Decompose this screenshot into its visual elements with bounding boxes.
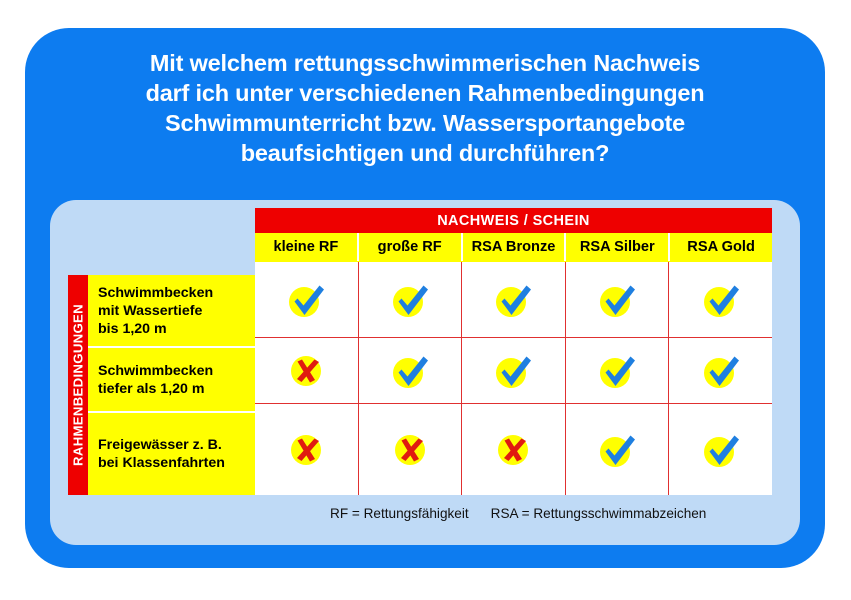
cell-r2-c0 <box>255 404 359 495</box>
cell-r0-c0 <box>255 262 359 337</box>
row-label-1-line-1: Schwimmbecken <box>98 284 255 302</box>
check-icon <box>284 280 328 320</box>
cell-r0-c1 <box>359 262 463 337</box>
cell-r0-c4 <box>669 262 772 337</box>
title-line-4: beaufsichtigen und durchführen? <box>25 138 825 168</box>
footnote-legend: RF = RettungsfähigkeitRSA = Rettungsschw… <box>330 506 780 521</box>
row-label-1: Schwimmbecken mit Wassertiefe bis 1,20 m <box>88 275 255 348</box>
row-label-1-line-2: mit Wassertiefe <box>98 302 255 320</box>
title-line-3: Schwimmunterricht bzw. Wassersportangebo… <box>25 108 825 138</box>
table-row <box>255 338 772 404</box>
cell-r1-c4 <box>669 338 772 403</box>
row-label-1-line-3: bis 1,20 m <box>98 320 255 338</box>
cell-r0-c3 <box>566 262 670 337</box>
row-label-2-line-2: tiefer als 1,20 m <box>98 380 255 398</box>
column-header-kleine-rf: kleine RF <box>255 233 359 261</box>
check-icon <box>388 351 432 391</box>
cross-icon <box>388 430 432 470</box>
footnote-rf: RF = Rettungsfähigkeit <box>330 506 469 521</box>
table-row <box>255 404 772 495</box>
row-label-3-line-2: bei Klassenfahrten <box>98 454 255 472</box>
check-icon <box>595 430 639 470</box>
cross-icon <box>491 430 535 470</box>
row-label-3: Freigewässer z. B. bei Klassenfahrten <box>88 413 255 495</box>
title-line-1: Mit welchem rettungsschwimmerischen Nach… <box>25 48 825 78</box>
table-body <box>255 261 772 495</box>
row-label-column: Schwimmbecken mit Wassertiefe bis 1,20 m… <box>88 275 255 495</box>
table-row <box>255 262 772 338</box>
check-icon <box>491 351 535 391</box>
column-header-row: kleine RF große RF RSA Bronze RSA Silber… <box>255 233 772 261</box>
row-label-2: Schwimmbecken tiefer als 1,20 m <box>88 348 255 413</box>
row-label-3-line-1: Freigewässer z. B. <box>98 436 255 454</box>
column-header-rsa-silber: RSA Silber <box>566 233 670 261</box>
cell-r1-c1 <box>359 338 463 403</box>
check-icon <box>699 351 743 391</box>
check-icon <box>699 280 743 320</box>
cell-r2-c3 <box>566 404 670 495</box>
cell-r0-c2 <box>462 262 566 337</box>
cell-r1-c0 <box>255 338 359 403</box>
column-header-rsa-gold: RSA Gold <box>670 233 772 261</box>
check-icon <box>491 280 535 320</box>
cell-r1-c3 <box>566 338 670 403</box>
row-label-2-line-1: Schwimmbecken <box>98 362 255 380</box>
cross-icon <box>284 351 328 391</box>
infographic-root: Mit welchem rettungsschwimmerischen Nach… <box>0 0 851 600</box>
check-icon <box>595 351 639 391</box>
cell-r1-c2 <box>462 338 566 403</box>
cell-r2-c1 <box>359 404 463 495</box>
cell-r2-c4 <box>669 404 772 495</box>
page-title: Mit welchem rettungsschwimmerischen Nach… <box>25 48 825 168</box>
check-icon <box>388 280 432 320</box>
check-icon <box>699 430 743 470</box>
column-header-rsa-bronze: RSA Bronze <box>463 233 567 261</box>
matrix-table: RAHMENBEDINGUNGEN Schwimmbecken mit Wass… <box>68 208 772 495</box>
side-label-rahmenbedingungen: RAHMENBEDINGUNGEN <box>68 275 88 495</box>
cross-icon <box>284 430 328 470</box>
table-header-band: NACHWEIS / SCHEIN <box>255 208 772 233</box>
side-label-text: RAHMENBEDINGUNGEN <box>71 304 86 466</box>
title-line-2: darf ich unter verschiedenen Rahmenbedin… <box>25 78 825 108</box>
check-icon <box>595 280 639 320</box>
footnote-rsa: RSA = Rettungsschwimmabzeichen <box>491 506 707 521</box>
cell-r2-c2 <box>462 404 566 495</box>
column-header-grosse-rf: große RF <box>359 233 463 261</box>
